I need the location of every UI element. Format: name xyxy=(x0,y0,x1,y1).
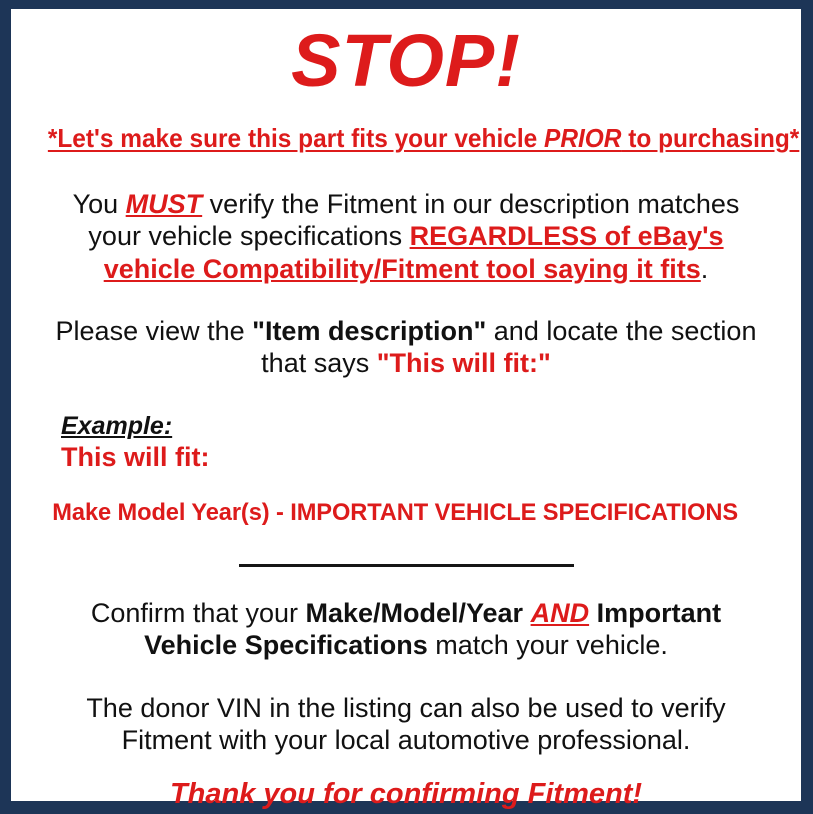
subheadline-prefix: *Let's make sure this part fits your veh… xyxy=(48,123,544,153)
item-description-emphasis: "Item description" xyxy=(252,316,486,346)
thank-you-line: Thank you for confirming Fitment! xyxy=(25,756,787,811)
this-will-fit-emphasis: "This will fit:" xyxy=(377,348,551,378)
subheadline-suffix: to purchasing* xyxy=(621,123,799,153)
must-emphasis: MUST xyxy=(126,189,203,219)
fitment-notice-card: STOP! *Let's make sure this part fits yo… xyxy=(0,0,813,814)
confirm-paragraph: Confirm that your Make/Model/Year AND Im… xyxy=(25,575,787,662)
must-verify-paragraph: You MUST verify the Fitment in our descr… xyxy=(25,154,787,285)
item-desc-seg1: Please view the xyxy=(56,316,253,346)
must-paragraph-seg5: . xyxy=(701,254,709,284)
example-this-will-fit-line: This will fit: xyxy=(61,440,787,473)
divider-wrap xyxy=(25,527,787,575)
subheadline-banner: *Let's make sure this part fits your veh… xyxy=(48,98,764,154)
confirm-seg3 xyxy=(523,598,531,628)
example-block: Example: This will fit: xyxy=(25,380,787,473)
subheadline-emphasis-prior: PRIOR xyxy=(544,123,621,153)
and-emphasis: AND xyxy=(531,598,590,628)
example-label-row: Example: xyxy=(61,412,787,440)
confirm-seg5 xyxy=(589,598,597,628)
horizontal-divider xyxy=(239,564,574,567)
must-paragraph-seg1: You xyxy=(73,189,126,219)
example-label: Example: xyxy=(61,412,172,440)
notice-content: STOP! *Let's make sure this part fits yo… xyxy=(11,9,801,801)
page-title: STOP! xyxy=(25,9,787,98)
example-spec-line: Make Model Year(s) - IMPORTANT VEHICLE S… xyxy=(31,473,782,527)
item-description-paragraph: Please view the "Item description" and l… xyxy=(25,285,787,380)
make-model-year-emphasis: Make/Model/Year xyxy=(305,598,523,628)
confirm-seg1: Confirm that your xyxy=(91,598,306,628)
confirm-seg7: match your vehicle. xyxy=(428,630,668,660)
donor-vin-paragraph: The donor VIN in the listing can also be… xyxy=(25,662,787,757)
